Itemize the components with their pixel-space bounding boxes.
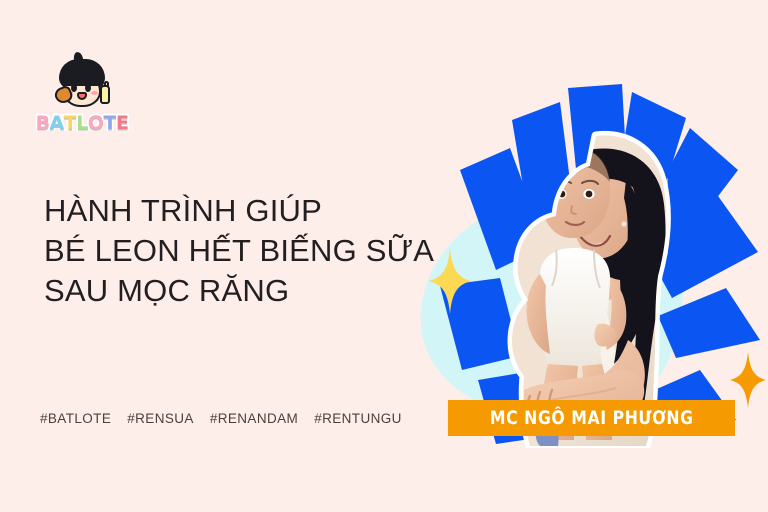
mascot-cheek-right [91,91,98,95]
hashtag-item[interactable]: #BATLOTE [40,411,111,426]
logo-wordmark: B A T L O T E [36,109,128,137]
guest-name-label: MC NGÔ MAI PHƯƠNG [490,407,694,429]
hashtag-item[interactable]: #RENSUA [127,411,194,426]
hashtag-item[interactable]: #RENANDAM [210,411,298,426]
sparkle-yellow-left [428,248,472,314]
logo-letter-4: O [88,114,104,133]
page-title: HÀNH TRÌNH GIÚP BÉ LEON HẾT BIẾNG SỮA SA… [44,191,444,311]
hashtag-list: #BATLOTE #RENSUA #RENANDAM #RENTUNGU [40,411,402,426]
sparkle-orange-right [730,352,766,408]
headline-line-3: SAU MỌC RĂNG [44,271,444,311]
milk-bottle-icon [100,85,110,104]
logo-letter-5: T [104,114,116,133]
headline-line-2: BÉ LEON HẾT BIẾNG SỮA [44,231,444,271]
mascot-icon [54,57,110,113]
poster-canvas: B A T L O T E HÀNH TRÌNH GIÚP BÉ LEON HẾ… [0,0,768,512]
mascot-fringe [60,70,104,86]
guest-name-banner: MC NGÔ MAI PHƯƠNG [448,400,735,436]
logo-letter-3: L [76,114,88,133]
hashtag-item[interactable]: #RENTUNGU [314,411,402,426]
logo-letter-2: T [64,114,76,133]
logo-letter-0: B [36,114,50,133]
logo-letter-6: E [116,114,128,133]
mascot-eye-right [85,84,91,92]
headline-line-1: HÀNH TRÌNH GIÚP [44,191,444,231]
hero-artwork [400,40,768,460]
batlote-logo[interactable]: B A T L O T E [36,57,128,139]
logo-letter-1: A [50,114,64,133]
